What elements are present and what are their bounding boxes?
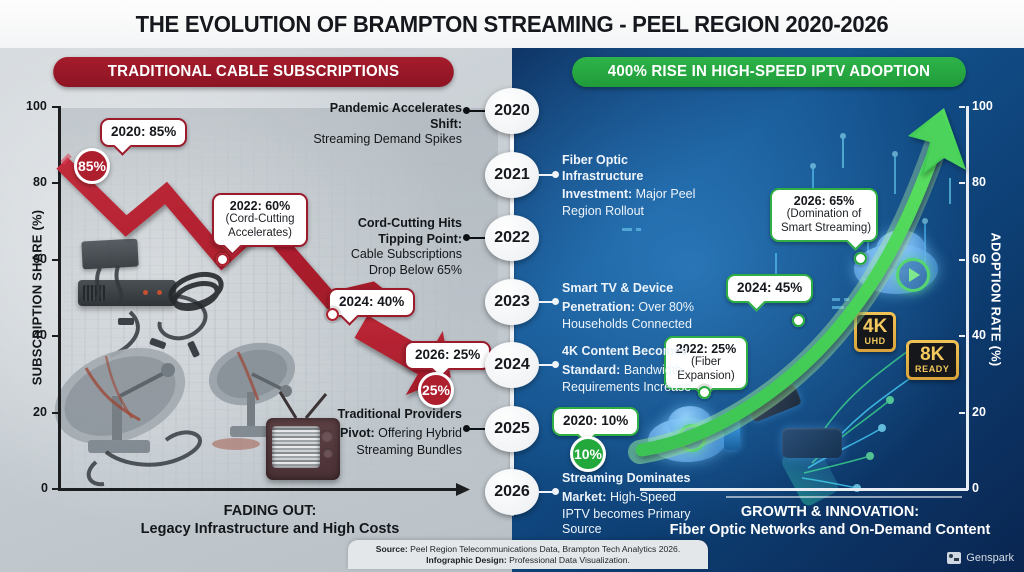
timeline-event-right-2024: 4K Content Becomes Standard: Bandwidth R… [562,344,714,395]
genspark-label: Genspark [966,552,1014,564]
timeline-year-2024: 2024 [494,356,530,374]
source-line-2: Infographic Design: Professional Data Vi… [356,555,700,566]
event-left-2025-bold: Traditional Providers [296,407,462,423]
timeline-year-2020: 2020 [494,102,530,120]
marker-iptv-2026 [854,252,867,265]
callout-iptv-2026: 2026: 65% (Domination of Smart Streaming… [770,188,878,242]
timeline-event-left-2020: Pandemic Accelerates Shift: Streaming De… [300,101,462,148]
disc-iptv-10: 10% [570,436,606,472]
timeline-node-2021[interactable]: 2021 [485,152,539,198]
event-right-2023-bold: Smart TV & Device [562,281,712,297]
source-line1-rest: Peel Region Telecommunications Data, Bra… [408,544,680,554]
timeline-bullet-left-2020 [463,107,470,114]
timeline-bullet-left-2022 [463,234,470,241]
infographic-canvas: THE EVOLUTION OF BRAMPTON STREAMING - PE… [0,0,1024,572]
event-left-2022-rest2: Drop Below 65% [296,263,462,279]
timeline-year-2022: 2022 [494,229,530,247]
timeline-bullet-right-2023 [552,298,559,305]
timeline-node-2020[interactable]: 2020 [485,88,539,134]
timeline-bullet-right-2024 [552,361,559,368]
timeline-bullet-right-2026 [552,488,559,495]
timeline-year-2023: 2023 [494,293,530,311]
timeline-event-left-2022: Cord-Cutting Hits Tipping Point: Cable S… [296,216,462,279]
timeline-node-2022[interactable]: 2022 [485,215,539,261]
timeline-event-right-2023: Smart TV & Device Penetration: Over 80% … [562,281,712,332]
event-right-2021-line2: Investment: Major Peel [562,184,712,204]
genspark-logo-icon [947,552,961,564]
event-right-2023-bold2: Penetration: [562,300,635,314]
event-right-2024-bold2: Standard: [562,363,620,377]
timeline-bullet-left-2025 [463,425,470,432]
callout-iptv-2026-head: 2026: 65% [781,194,867,208]
event-left-2020-bold: Pandemic Accelerates Shift: [300,101,462,132]
timeline-event-right-2021: Fiber Optic Infrastructure Investment: M… [562,153,712,220]
timeline-node-2025[interactable]: 2025 [485,406,539,452]
event-right-2024-bold: 4K Content Becomes [562,344,714,360]
source-box: Source: Peel Region Telecommunications D… [348,540,708,569]
event-left-2025-rest: Offering Hybrid [375,426,462,440]
event-left-2022-rest: Cable Subscriptions [296,247,462,263]
event-left-2022-bold2: Tipping Point: [296,232,462,248]
timeline-year-2026: 2026 [494,483,530,501]
source-line2-rest: Professional Data Visualization. [507,555,630,565]
source-line2-bold: Infographic Design: [426,555,507,565]
timeline-event-left-2025: Traditional Providers Pivot: Offering Hy… [296,407,462,458]
right-footer-rule [726,496,962,498]
callout-iptv-2024: 2024: 45% [726,274,813,303]
right-footer: GROWTH & INNOVATION: Fiber Optic Network… [660,503,1000,539]
event-right-2024-rest2: Requirements Increase [562,380,714,396]
event-left-2020-rest: Streaming Demand Spikes [300,132,462,148]
source-line-1: Source: Peel Region Telecommunications D… [356,544,700,555]
timeline-bullet-right-2021 [552,171,559,178]
event-right-2023-line2: Penetration: Over 80% [562,297,712,317]
right-footer-line2: Fiber Optic Networks and On-Demand Conte… [660,521,1000,539]
timeline-node-2026[interactable]: 2026 [485,469,539,515]
event-right-2021-rest: Major Peel [632,187,695,201]
event-right-2026-bold2: Market: [562,490,606,504]
event-right-2024-line2: Standard: Bandwidth [562,360,714,380]
event-left-2022-bold: Cord-Cutting Hits [296,216,462,232]
timeline-year-2021: 2021 [494,166,530,184]
timeline-node-2023[interactable]: 2023 [485,279,539,325]
event-left-2025-rest2: Streaming Bundles [296,443,462,459]
event-right-2023-rest: Over 80% [635,300,694,314]
callout-iptv-2026-sub: (Domination of [781,208,867,221]
event-right-2021-bold2: Investment: [562,187,632,201]
event-right-2024-rest: Bandwidth [620,363,682,377]
marker-iptv-2024 [792,314,805,327]
right-footer-line1: GROWTH & INNOVATION: [660,503,1000,521]
left-footer: FADING OUT: Legacy Infrastructure and Hi… [120,502,420,538]
timeline-year-2025: 2025 [494,420,530,438]
event-right-2021-rest2: Region Rollout [562,204,712,220]
timeline-node-2024[interactable]: 2024 [485,342,539,388]
event-left-2025-bold2: Pivot: [340,426,375,440]
event-right-2021-bold: Fiber Optic Infrastructure [562,153,712,184]
event-left-2025-line2: Pivot: Offering Hybrid [296,423,462,443]
genspark-watermark: Genspark [947,552,1014,564]
callout-iptv-2020: 2020: 10% [552,407,639,436]
source-line1-bold: Source: [376,544,408,554]
event-right-2023-rest2: Households Connected [562,317,712,333]
callout-iptv-2024-head: 2024: 45% [737,280,802,296]
event-right-2026-rest: High-Speed [606,490,676,504]
disc-iptv-10-label: 10% [574,446,602,462]
event-right-2026-bold: Streaming Dominates [562,471,712,487]
callout-iptv-2020-head: 2020: 10% [563,413,628,429]
left-footer-line1: FADING OUT: [120,502,420,520]
left-footer-line2: Legacy Infrastructure and High Costs [120,520,420,538]
